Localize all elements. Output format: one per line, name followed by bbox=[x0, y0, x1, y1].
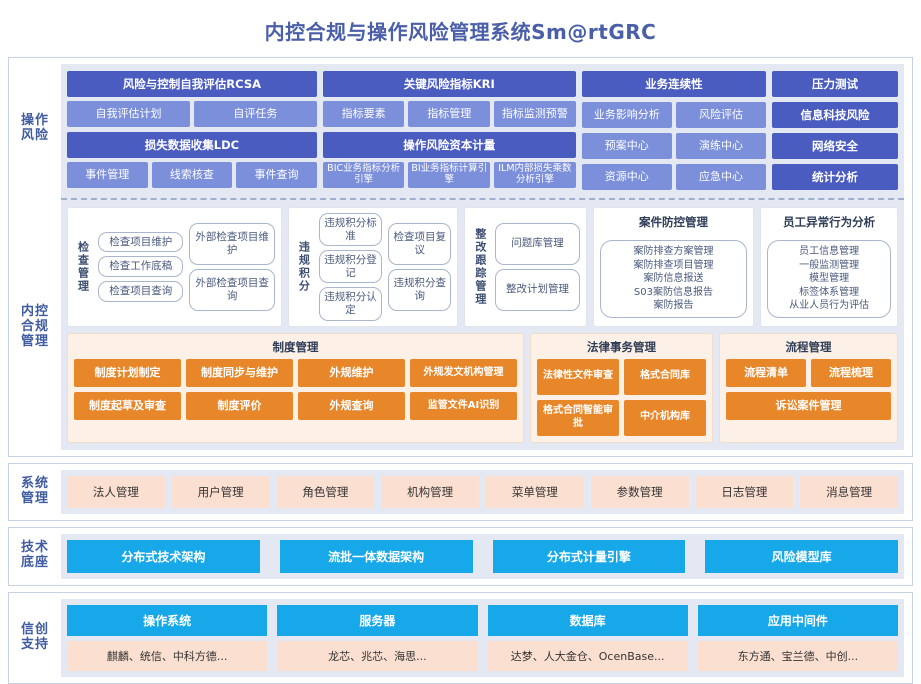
module-item[interactable]: 指标监测预警 bbox=[494, 101, 576, 127]
pill-item[interactable]: 外部检查项目查询 bbox=[189, 269, 274, 311]
system-item[interactable]: 消息管理 bbox=[800, 476, 898, 508]
xinchuang-header[interactable]: 数据库 bbox=[488, 605, 688, 636]
card-legal-affairs: 法律事务管理 法律性文件审查 格式合同智能审批 格式合同库 中介机构库 bbox=[530, 333, 713, 443]
xinchuang-vendors[interactable]: 东方通、宝兰德、中创... bbox=[698, 641, 898, 671]
xinchuang-header[interactable]: 操作系统 bbox=[67, 605, 267, 636]
tech-item[interactable]: 风险模型库 bbox=[705, 540, 898, 573]
legal-button[interactable]: 格式合同库 bbox=[624, 359, 706, 395]
legal-button[interactable]: 中介机构库 bbox=[624, 400, 706, 436]
module-item[interactable]: 业务影响分析 bbox=[582, 102, 672, 128]
list-item[interactable]: 一般监测管理 bbox=[774, 259, 884, 273]
card-employee-behavior: 员工异常行为分析 员工信息管理 一般监测管理 模型管理 标签体系管理 从业人员行… bbox=[760, 207, 898, 327]
ic-label-line3: 管理 bbox=[21, 334, 49, 349]
module-header-kri[interactable]: 关键风险指标KRI bbox=[323, 71, 576, 97]
module-item[interactable]: 预案中心 bbox=[582, 133, 672, 159]
list-item[interactable]: 案防排查项目管理 bbox=[607, 259, 741, 273]
system-item[interactable]: 角色管理 bbox=[277, 476, 375, 508]
list-item[interactable]: 案防信息报送 bbox=[607, 272, 741, 286]
top-frame-content: 风险与控制自我评估RCSA 自我评估计划 自评任务 损失数据收集LDC 事件管理… bbox=[61, 58, 912, 456]
block-op-risk-capital: 操作风险资本计量 BIC业务指标分析引擎 BI业务指标计算引擎 ILM内部损失乘… bbox=[323, 132, 576, 188]
section-label-internal-control: 内控 合规 管理 bbox=[9, 198, 61, 456]
module-header-statistics[interactable]: 统计分析 bbox=[772, 164, 898, 190]
pill-item[interactable]: 检查项目维护 bbox=[98, 232, 183, 253]
card-violation-points: 违规积分 违规积分标准 违规积分登记 违规积分认定 检查项目复议 违规积分查询 bbox=[288, 207, 458, 327]
module-item[interactable]: 线索核查 bbox=[152, 162, 233, 188]
xinchuang-column: 应用中间件 东方通、宝兰德、中创... bbox=[698, 605, 898, 671]
module-item[interactable]: 自评任务 bbox=[194, 101, 317, 127]
tech-item[interactable]: 分布式计量引擎 bbox=[493, 540, 686, 573]
system-item[interactable]: 法人管理 bbox=[67, 476, 165, 508]
pill-item[interactable]: 检查工作底稿 bbox=[98, 256, 183, 277]
internal-control-panel: 检查管理 检查项目维护 检查工作底稿 检查项目查询 外部检查项目维护 外部检查项… bbox=[61, 200, 904, 450]
xinchuang-vendors[interactable]: 龙芯、兆芯、海思... bbox=[277, 641, 477, 671]
module-item[interactable]: BI业务指标计算引擎 bbox=[408, 162, 490, 188]
band-tech-base: 技术 底座 分布式技术架构 流批一体数据架构 分布式计量引擎 风险模型库 bbox=[8, 527, 913, 586]
sys-label-line2: 管理 bbox=[21, 491, 49, 506]
internal-control-row-2: 制度管理 制度计划制定 制度起草及审查 制度同步与维护 制度评价 bbox=[67, 333, 898, 443]
tech-item[interactable]: 流批一体数据架构 bbox=[280, 540, 473, 573]
op-risk-label-line1: 操作 bbox=[21, 113, 49, 128]
module-header-rcsa[interactable]: 风险与控制自我评估RCSA bbox=[67, 71, 317, 97]
internal-control-row-1: 检查管理 检查项目维护 检查工作底稿 检查项目查询 外部检查项目维护 外部检查项… bbox=[67, 207, 898, 327]
card-case-prevention: 案件防控管理 案防排查方案管理 案防排查项目管理 案防信息报送 S03案防信息报… bbox=[593, 207, 755, 327]
list-item[interactable]: 案防报告 bbox=[607, 299, 741, 313]
xinchuang-vendors[interactable]: 达梦、人大金仓、OcenBase... bbox=[488, 641, 688, 671]
module-header-capital[interactable]: 操作风险资本计量 bbox=[323, 132, 576, 158]
op-column-standalone: 压力测试 信息科技风险 网络安全 统计分析 bbox=[772, 71, 898, 190]
policy-button[interactable]: 外规发文机构管理 bbox=[410, 359, 517, 387]
xinchuang-column: 数据库 达梦、人大金仓、OcenBase... bbox=[488, 605, 688, 671]
card-vlabel: 违规积分 bbox=[295, 213, 313, 321]
operation-risk-panel: 风险与控制自我评估RCSA 自我评估计划 自评任务 损失数据收集LDC 事件管理… bbox=[61, 64, 904, 200]
pill-item[interactable]: 整改计划管理 bbox=[495, 269, 579, 311]
xinchuang-body: 操作系统 麒麟、统信、中科方德... 服务器 龙芯、兆芯、海思... 数据库 达… bbox=[61, 599, 904, 677]
case-prevention-items[interactable]: 案防排查方案管理 案防排查项目管理 案防信息报送 S03案防信息报告 案防报告 bbox=[600, 240, 748, 318]
card-vlabel: 检查管理 bbox=[74, 213, 92, 321]
pill-item[interactable]: 检查项目复议 bbox=[388, 223, 451, 265]
legal-button[interactable]: 格式合同智能审批 bbox=[537, 400, 619, 436]
xinchuang-column: 操作系统 麒麟、统信、中科方德... bbox=[67, 605, 267, 671]
system-item[interactable]: 机构管理 bbox=[381, 476, 479, 508]
module-header-stress-test[interactable]: 压力测试 bbox=[772, 71, 898, 97]
card-policy-management: 制度管理 制度计划制定 制度起草及审查 制度同步与维护 制度评价 bbox=[67, 333, 524, 443]
top-frame: 操作 风险 内控 合规 管理 风险与控制自我评估RCS bbox=[8, 57, 913, 457]
module-item[interactable]: 事件管理 bbox=[67, 162, 148, 188]
card-title: 制度管理 bbox=[74, 338, 517, 359]
pill-item[interactable]: 违规积分标准 bbox=[319, 213, 382, 246]
tech-label-line2: 底座 bbox=[21, 555, 49, 570]
pill-item[interactable]: 违规积分登记 bbox=[319, 250, 382, 283]
block-ldc: 损失数据收集LDC 事件管理 线索核查 事件查询 bbox=[67, 132, 317, 188]
xc-label-line1: 信创 bbox=[21, 622, 49, 637]
pill-item[interactable]: 问题库管理 bbox=[495, 223, 579, 265]
op-column-rcsa: 风险与控制自我评估RCSA 自我评估计划 自评任务 损失数据收集LDC 事件管理… bbox=[67, 71, 317, 190]
sys-label-line1: 系统 bbox=[21, 476, 49, 491]
module-header-business-continuity[interactable]: 业务连续性 bbox=[582, 71, 766, 97]
module-header-network-security[interactable]: 网络安全 bbox=[772, 133, 898, 159]
section-label-tech-base: 技术 底座 bbox=[9, 528, 61, 585]
page-title: 内控合规与操作风险管理系统Sm@rtGRC bbox=[8, 6, 913, 57]
tech-base-body: 分布式技术架构 流批一体数据架构 分布式计量引擎 风险模型库 bbox=[61, 534, 904, 579]
section-label-operation-risk: 操作 风险 bbox=[9, 58, 61, 198]
top-frame-labels: 操作 风险 内控 合规 管理 bbox=[9, 58, 61, 456]
module-item[interactable]: BIC业务指标分析引擎 bbox=[323, 162, 405, 188]
module-item[interactable]: ILM内部损失乘数分析引擎 bbox=[494, 162, 576, 188]
system-item[interactable]: 用户管理 bbox=[172, 476, 270, 508]
process-button[interactable]: 流程梳理 bbox=[811, 359, 891, 387]
system-management-body: 法人管理 用户管理 角色管理 机构管理 菜单管理 参数管理 日志管理 消息管理 bbox=[61, 470, 904, 514]
module-item[interactable]: 演练中心 bbox=[676, 133, 766, 159]
list-item[interactable]: 从业人员行为评估 bbox=[774, 299, 884, 313]
policy-button[interactable]: 监管文件AI识别 bbox=[410, 392, 517, 420]
ic-label-line2: 合规 bbox=[21, 319, 49, 334]
pill-item[interactable]: 违规积分认定 bbox=[319, 287, 382, 320]
card-vlabel: 整改跟踪管理 bbox=[471, 213, 489, 321]
module-item[interactable]: 资源中心 bbox=[582, 164, 672, 190]
process-button[interactable]: 诉讼案件管理 bbox=[726, 392, 891, 420]
card-inspection-management: 检查管理 检查项目维护 检查工作底稿 检查项目查询 外部检查项目维护 外部检查项… bbox=[67, 207, 282, 327]
policy-button[interactable]: 制度评价 bbox=[186, 392, 293, 420]
employee-behavior-items[interactable]: 员工信息管理 一般监测管理 模型管理 标签体系管理 从业人员行为评估 bbox=[767, 240, 891, 318]
system-item[interactable]: 参数管理 bbox=[591, 476, 689, 508]
list-item[interactable]: S03案防信息报告 bbox=[607, 286, 741, 300]
module-item[interactable]: 指标要素 bbox=[323, 101, 405, 127]
op-column-business-continuity: 业务连续性 业务影响分析 风险评估 预案中心 演练中心 资源中心 应急中心 bbox=[582, 71, 766, 190]
op-column-kri: 关键风险指标KRI 指标要素 指标管理 指标监测预警 操作风险资本计量 BIC业… bbox=[323, 71, 576, 190]
policy-button[interactable]: 外规维护 bbox=[298, 359, 405, 387]
pill-item[interactable]: 外部检查项目维护 bbox=[189, 223, 274, 265]
tech-item[interactable]: 分布式技术架构 bbox=[67, 540, 260, 573]
card-title: 流程管理 bbox=[726, 338, 891, 359]
system-item[interactable]: 日志管理 bbox=[696, 476, 794, 508]
block-rcsa: 风险与控制自我评估RCSA 自我评估计划 自评任务 bbox=[67, 71, 317, 127]
section-label-xinchuang: 信创 支持 bbox=[9, 593, 61, 683]
list-item[interactable]: 标签体系管理 bbox=[774, 286, 884, 300]
card-title: 案件防控管理 bbox=[639, 213, 708, 234]
list-item[interactable]: 员工信息管理 bbox=[774, 245, 884, 259]
pill-item[interactable]: 检查项目查询 bbox=[98, 281, 183, 302]
band-system-management: 系统 管理 法人管理 用户管理 角色管理 机构管理 菜单管理 参数管理 日志管理… bbox=[8, 463, 913, 521]
xinchuang-column: 服务器 龙芯、兆芯、海思... bbox=[277, 605, 477, 671]
xc-label-line2: 支持 bbox=[21, 637, 49, 652]
pill-item[interactable]: 违规积分查询 bbox=[388, 269, 451, 311]
legal-button[interactable]: 法律性文件审查 bbox=[537, 359, 619, 395]
policy-button[interactable]: 外规查询 bbox=[298, 392, 405, 420]
policy-button[interactable]: 制度起草及审查 bbox=[74, 392, 181, 420]
card-process-management: 流程管理 流程清单 流程梳理 诉讼案件管理 bbox=[719, 333, 898, 443]
system-item[interactable]: 菜单管理 bbox=[486, 476, 584, 508]
xinchuang-header[interactable]: 应用中间件 bbox=[698, 605, 898, 636]
module-header-it-risk[interactable]: 信息科技风险 bbox=[772, 102, 898, 128]
policy-button[interactable]: 制度同步与维护 bbox=[186, 359, 293, 387]
band-xinchuang-support: 信创 支持 操作系统 麒麟、统信、中科方德... 服务器 龙芯、兆芯、海思...… bbox=[8, 592, 913, 684]
module-item[interactable]: 指标管理 bbox=[408, 101, 490, 127]
card-rectification-tracking: 整改跟踪管理 问题库管理 整改计划管理 bbox=[464, 207, 586, 327]
module-item[interactable]: 事件查询 bbox=[236, 162, 317, 188]
xinchuang-vendors[interactable]: 麒麟、统信、中科方德... bbox=[67, 641, 267, 671]
ic-label-line1: 内控 bbox=[21, 304, 49, 319]
policy-button[interactable]: 制度计划制定 bbox=[74, 359, 181, 387]
tech-label-line1: 技术 bbox=[21, 540, 49, 555]
module-item[interactable]: 自我评估计划 bbox=[67, 101, 190, 127]
card-title: 法律事务管理 bbox=[537, 338, 706, 359]
xinchuang-header[interactable]: 服务器 bbox=[277, 605, 477, 636]
process-button[interactable]: 流程清单 bbox=[726, 359, 806, 387]
card-title: 员工异常行为分析 bbox=[783, 213, 875, 234]
section-label-system-management: 系统 管理 bbox=[9, 464, 61, 520]
block-kri: 关键风险指标KRI 指标要素 指标管理 指标监测预警 bbox=[323, 71, 576, 127]
architecture-diagram-page: 内控合规与操作风险管理系统Sm@rtGRC 操作 风险 内控 合规 管理 bbox=[0, 0, 921, 640]
list-item[interactable]: 模型管理 bbox=[774, 272, 884, 286]
module-header-ldc[interactable]: 损失数据收集LDC bbox=[67, 132, 317, 158]
op-risk-label-line2: 风险 bbox=[21, 128, 49, 143]
module-item[interactable]: 应急中心 bbox=[676, 164, 766, 190]
list-item[interactable]: 案防排查方案管理 bbox=[607, 245, 741, 259]
module-item[interactable]: 风险评估 bbox=[676, 102, 766, 128]
